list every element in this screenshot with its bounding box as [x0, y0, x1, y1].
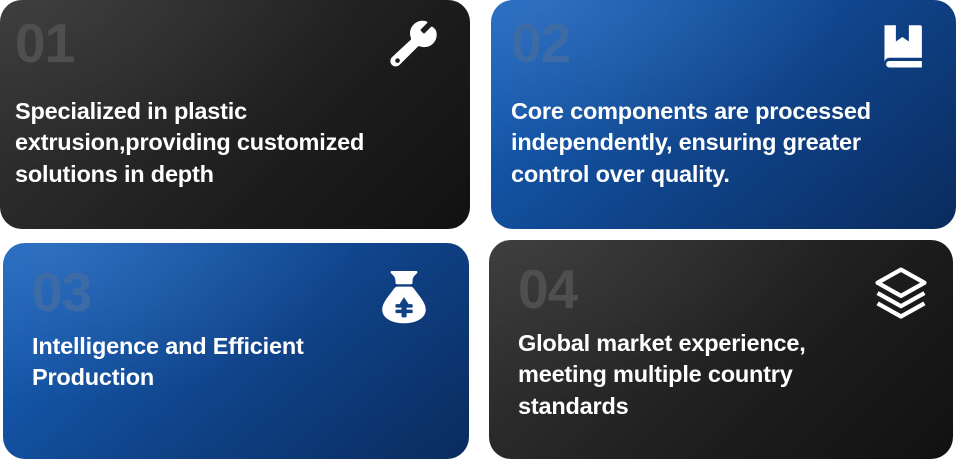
card-number-01: 01	[15, 16, 74, 71]
feature-card-grid: 01 Specialized in plastic extrusion,prov…	[0, 0, 960, 459]
card-number-03: 03	[32, 265, 91, 320]
feature-card-01[interactable]: 01 Specialized in plastic extrusion,prov…	[0, 0, 470, 229]
wrench-icon	[384, 20, 440, 76]
card-headline-04: Global market experience, meeting multip…	[518, 328, 933, 422]
layers-stack-icon	[871, 264, 931, 324]
feature-card-02[interactable]: 02 Core components are processed indepen…	[491, 0, 956, 229]
card-headline-01: Specialized in plastic extrusion,providi…	[15, 96, 452, 190]
feature-card-03[interactable]: 03 Intelligence and Efficient Production	[3, 243, 469, 459]
money-bag-yen-icon	[375, 268, 433, 326]
card-number-02: 02	[511, 16, 570, 71]
card-number-04: 04	[518, 262, 577, 317]
card-headline-02: Core components are processed independen…	[511, 96, 948, 190]
feature-card-04[interactable]: 04 Global market experience, meeting mul…	[489, 240, 953, 459]
card-headline-03: Intelligence and Efficient Production	[32, 331, 449, 394]
book-bookmark-icon	[878, 22, 930, 74]
